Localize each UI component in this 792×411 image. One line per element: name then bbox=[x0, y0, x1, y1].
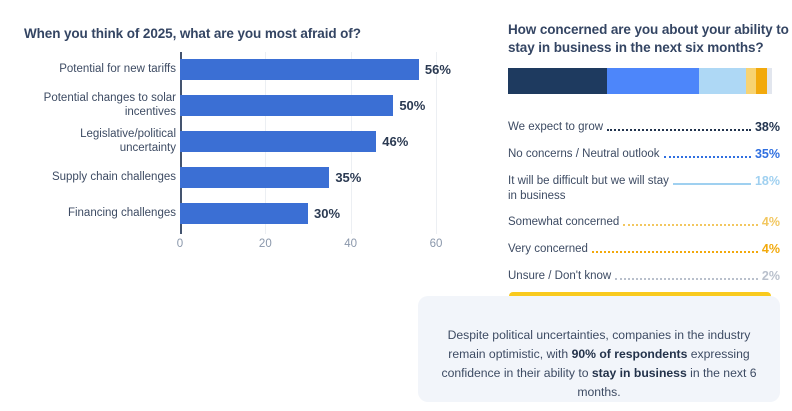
bar-value-label: 50% bbox=[393, 95, 425, 116]
bar-row[interactable]: Supply chain challenges35% bbox=[0, 160, 470, 196]
stacked-bar-segment[interactable] bbox=[756, 68, 766, 94]
legend-row[interactable]: No concerns / Neutral outlook35% bbox=[508, 147, 780, 163]
legend-row[interactable]: We expect to grow38% bbox=[508, 120, 780, 136]
legend-label: It will be difficult but we will stay in… bbox=[508, 174, 669, 204]
stacked-bar-segment[interactable] bbox=[767, 68, 772, 94]
x-tick-label: 60 bbox=[430, 238, 443, 250]
bar-fill[interactable] bbox=[180, 131, 376, 152]
legend-leader-line bbox=[673, 174, 751, 188]
x-tick-label: 20 bbox=[259, 238, 272, 250]
bar-fill[interactable] bbox=[180, 203, 308, 224]
bar-category-label: Potential changes to solarincentives bbox=[16, 91, 176, 119]
stacked-bar-legend: We expect to grow38%No concerns / Neutra… bbox=[508, 120, 780, 296]
bar-category-label: Potential for new tariffs bbox=[16, 62, 176, 76]
legend-leader-line bbox=[664, 147, 751, 161]
bar-fill[interactable] bbox=[180, 167, 329, 188]
bar-track: 46% bbox=[180, 124, 470, 160]
legend-row[interactable]: It will be difficult but we will stay in… bbox=[508, 174, 780, 204]
right-chart-panel: How concerned are you about your ability… bbox=[500, 0, 792, 280]
legend-value: 4% bbox=[762, 242, 780, 257]
callout-text: Despite political uncertainties, compani… bbox=[440, 326, 758, 402]
legend-row[interactable]: Somewhat concerned4% bbox=[508, 215, 780, 231]
bar-fill[interactable] bbox=[180, 95, 393, 116]
bar-category-label: Financing challenges bbox=[16, 206, 176, 220]
bar-track: 50% bbox=[180, 88, 470, 124]
bar-row[interactable]: Financing challenges30% bbox=[0, 196, 470, 232]
legend-value: 35% bbox=[755, 147, 780, 162]
legend-leader-line bbox=[607, 120, 751, 134]
legend-value: 38% bbox=[755, 120, 780, 135]
bar-value-label: 56% bbox=[419, 59, 451, 80]
bar-value-label: 30% bbox=[308, 203, 340, 224]
left-chart-title: When you think of 2025, what are you mos… bbox=[24, 25, 464, 43]
legend-row[interactable]: Very concerned4% bbox=[508, 242, 780, 258]
legend-label: No concerns / Neutral outlook bbox=[508, 147, 660, 162]
left-chart-panel: When you think of 2025, what are you mos… bbox=[0, 0, 490, 411]
legend-value: 2% bbox=[762, 269, 780, 284]
stacked-bar-segment[interactable] bbox=[607, 68, 698, 94]
legend-leader-line bbox=[592, 242, 758, 256]
bar-row[interactable]: Potential for new tariffs56% bbox=[0, 52, 470, 88]
legend-value: 18% bbox=[755, 174, 780, 189]
legend-label: We expect to grow bbox=[508, 120, 603, 135]
bar-category-label: Supply chain challenges bbox=[16, 170, 176, 184]
bar-value-label: 35% bbox=[329, 167, 361, 188]
legend-value: 4% bbox=[762, 215, 780, 230]
legend-label: Very concerned bbox=[508, 242, 588, 257]
legend-leader-line bbox=[615, 269, 758, 283]
x-tick-label: 0 bbox=[177, 238, 183, 250]
legend-leader-line bbox=[623, 215, 758, 229]
callout-highlight-respondents: 90% of respondents bbox=[572, 347, 688, 361]
bar-row[interactable]: Legislative/politicaluncertainty46% bbox=[0, 124, 470, 160]
right-chart-title: How concerned are you about your ability… bbox=[508, 21, 792, 57]
x-tick-label: 40 bbox=[344, 238, 357, 250]
bar-row[interactable]: Potential changes to solarincentives50% bbox=[0, 88, 470, 124]
legend-label: Somewhat concerned bbox=[508, 215, 619, 230]
bar-category-label: Legislative/politicaluncertainty bbox=[16, 127, 176, 155]
infographic-root: When you think of 2025, what are you mos… bbox=[0, 0, 792, 411]
bar-value-label: 46% bbox=[376, 131, 408, 152]
horizontal-bar-chart: Potential for new tariffs56%Potential ch… bbox=[0, 52, 470, 252]
callout-highlight-stay-in-business: stay in business bbox=[592, 366, 687, 380]
legend-row[interactable]: Unsure / Don't know2% bbox=[508, 269, 780, 285]
stacked-bar-segment[interactable] bbox=[508, 68, 607, 94]
bar-track: 56% bbox=[180, 52, 470, 88]
stacked-bar-segment[interactable] bbox=[746, 68, 756, 94]
legend-label: Unsure / Don't know bbox=[508, 269, 611, 284]
stacked-bar-segment[interactable] bbox=[699, 68, 746, 94]
bar-track: 35% bbox=[180, 160, 470, 196]
stacked-bar-chart bbox=[508, 68, 772, 94]
bar-track: 30% bbox=[180, 196, 470, 232]
callout-box: Despite political uncertainties, compani… bbox=[418, 296, 780, 402]
bar-fill[interactable] bbox=[180, 59, 419, 80]
